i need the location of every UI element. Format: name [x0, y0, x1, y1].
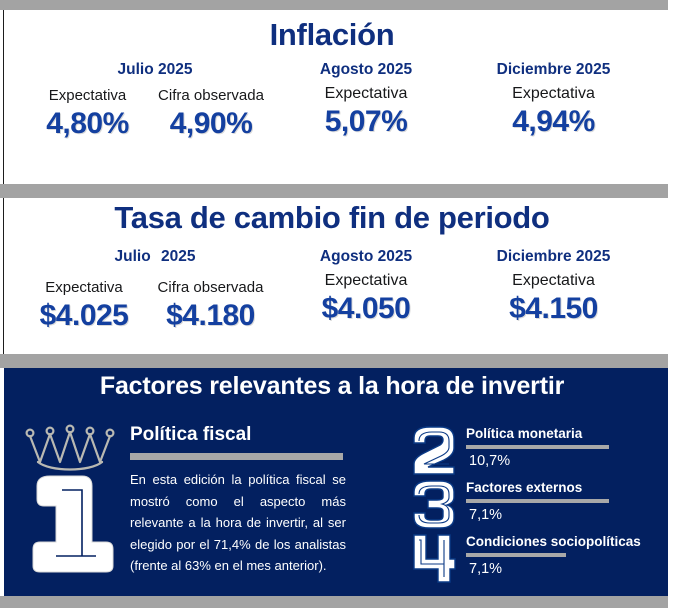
inflation-col-2: Cifra observada 4,90%: [143, 86, 279, 142]
exchange-col-2-label: Cifra observada: [142, 278, 279, 298]
month-name: Diciembre: [497, 61, 572, 78]
rank-4-numeral: [408, 532, 458, 589]
rank-3-text: Factores externos 7,1%: [466, 480, 678, 524]
infographic-page: Inflación Julio 2025 Expectativa 4,80% C…: [0, 0, 678, 608]
rank-row-4: Condiciones sociopolíticas 7,1%: [408, 532, 670, 584]
inflation-col-3-label: Expectativa: [288, 84, 444, 104]
inflation-col-1: Expectativa 4,80%: [30, 86, 145, 142]
rank-2-text: Política monetaria 10,7%: [466, 426, 678, 470]
inflation-col-2-label: Cifra observada: [143, 86, 279, 106]
rank-4-label: Condiciones sociopolíticas: [466, 534, 678, 550]
month-year: 2025: [576, 248, 610, 265]
exchange-col-3-value: $4.050: [288, 291, 444, 327]
month-name: Agosto: [320, 61, 373, 78]
factors-title: Factores relevantes a la hora de inverti…: [0, 372, 664, 400]
inflation-col-2-value: 4,90%: [143, 106, 279, 142]
rank-3-rule: [466, 499, 609, 503]
month-name: Julio: [118, 61, 154, 78]
exchange-col-2: Cifra observada $4.180: [142, 278, 279, 334]
rank-1-heading: Política fiscal: [130, 424, 350, 446]
rank-1-rule: [130, 453, 343, 460]
inflation-col-3-value: 5,07%: [288, 104, 444, 140]
exchange-col-3-label: Expectativa: [288, 271, 444, 291]
exchange-col-4-month: Diciembre 2025: [466, 248, 641, 266]
exchange-col-4-value: $4.150: [466, 291, 641, 327]
inflation-julio-month: Julio 2025: [40, 61, 270, 79]
rank-2-pct: 10,7%: [466, 453, 678, 470]
divider-gray-1: [0, 184, 668, 198]
month-year: 2025: [378, 248, 412, 265]
rank-4-text: Condiciones sociopolíticas 7,1%: [466, 534, 678, 578]
exchange-col-3-month: Agosto 2025: [288, 248, 444, 266]
month-name: Diciembre: [497, 248, 572, 265]
numeral-3-icon: [408, 478, 458, 530]
crown-one-icon: [20, 414, 120, 579]
month-name: Julio: [115, 248, 151, 265]
divider-gray-2: [0, 354, 668, 368]
rank-2-label: Política monetaria: [466, 426, 678, 442]
inflation-col-1-value: 4,80%: [30, 106, 145, 142]
exchange-col-4-label: Expectativa: [466, 271, 641, 291]
inflation-col-4-value: 4,94%: [466, 104, 641, 140]
rank-row-2: Política monetaria 10,7%: [408, 424, 670, 476]
rank-2-rule: [466, 445, 609, 449]
rank-2-numeral: [408, 424, 458, 481]
inflation-col-3-month: Agosto 2025: [288, 61, 444, 79]
rank-3-label: Factores externos: [466, 480, 678, 496]
month-year: 2025: [158, 61, 192, 78]
rank-1-crown-numeral: [20, 414, 120, 579]
inflation-col-4-month: Diciembre 2025: [466, 61, 641, 79]
rank-1-fiscal-block: Política fiscal En esta edición la polít…: [130, 424, 350, 577]
bottom-gray-band: [0, 596, 668, 608]
inflation-col-3: Agosto 2025 Expectativa 5,07%: [288, 61, 444, 140]
rank-1-body: En esta edición la política fiscal se mo…: [130, 469, 346, 577]
month-year: 2025: [378, 61, 412, 78]
exchange-col-1: Expectativa $4.025: [26, 278, 142, 334]
exchange-col-julio-header: Julio 2025: [40, 248, 270, 266]
exchange-col-4: Diciembre 2025 Expectativa $4.150: [466, 248, 641, 327]
rank-4-pct: 7,1%: [466, 561, 678, 578]
exchange-col-1-label: Expectativa: [26, 278, 142, 298]
rank-row-3: Factores externos 7,1%: [408, 478, 670, 530]
numeral-2-icon: [408, 424, 458, 476]
rank-4-rule: [466, 553, 566, 557]
inflation-col-4-label: Expectativa: [466, 84, 641, 104]
inflation-col-4: Diciembre 2025 Expectativa 4,94%: [466, 61, 641, 140]
inflation-col-julio-header: Julio 2025: [40, 61, 270, 79]
month-year: 2025: [576, 61, 610, 78]
month-name: Agosto: [320, 248, 373, 265]
exchange-col-1-value: $4.025: [26, 298, 142, 334]
inflation-title: Inflación: [0, 18, 664, 52]
top-gray-band: [0, 0, 668, 10]
exchange-julio-month: Julio 2025: [40, 248, 270, 266]
numeral-4-icon: [408, 532, 458, 584]
inflation-col-1-label: Expectativa: [30, 86, 145, 106]
exchange-col-2-value: $4.180: [142, 298, 279, 334]
exchange-col-3: Agosto 2025 Expectativa $4.050: [288, 248, 444, 327]
month-year: 2025: [161, 248, 195, 265]
rank-3-pct: 7,1%: [466, 507, 678, 524]
exchange-title: Tasa de cambio fin de periodo: [0, 201, 664, 235]
rank-3-numeral: [408, 478, 458, 535]
